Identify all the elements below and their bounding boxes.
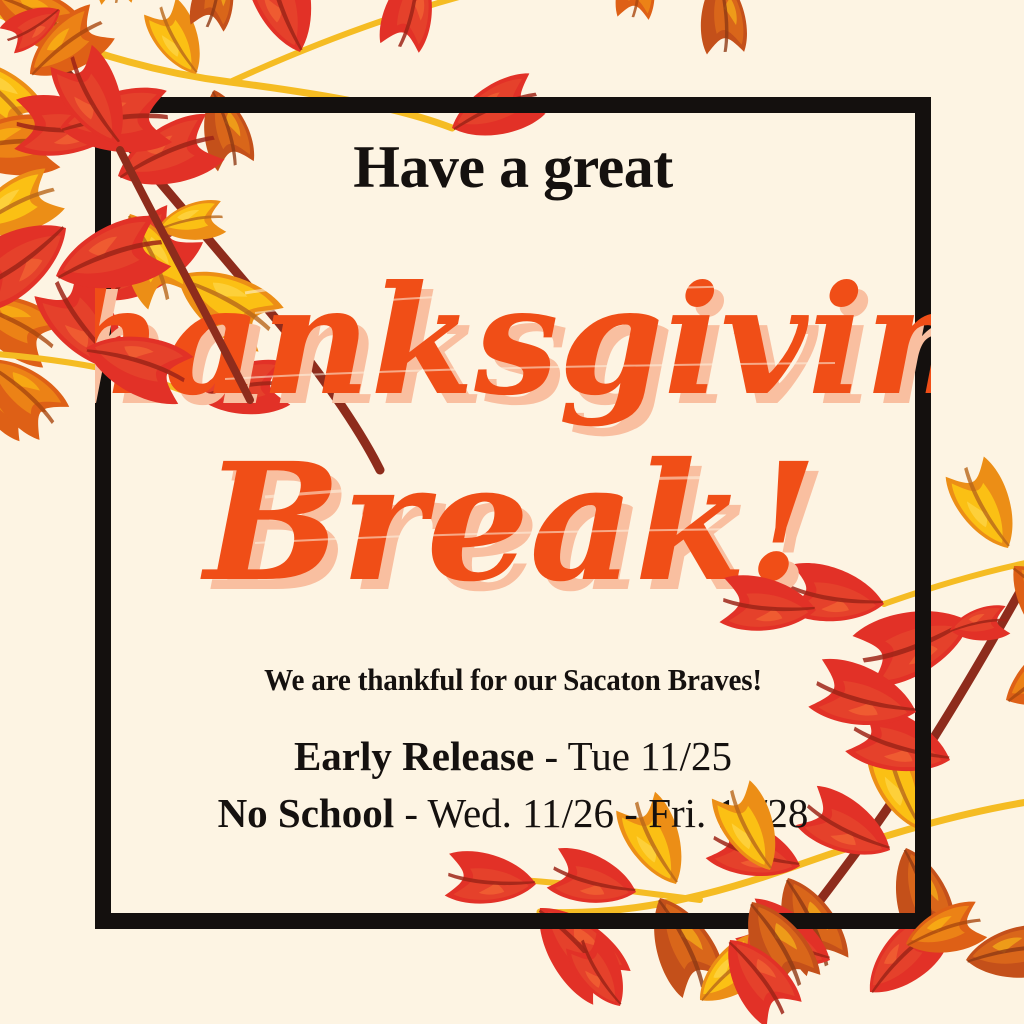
poster-content: Have a great Thanksgiving Thanksgiving B… — [95, 97, 931, 929]
schedule-label-no-school: No School — [218, 790, 395, 836]
gratitude-line: We are thankful for our Sacaton Braves! — [120, 662, 906, 698]
schedule-row-early-release: Early Release - Tue 11/25 — [95, 732, 931, 780]
schedule-value-early-release: - Tue 11/25 — [534, 733, 732, 779]
script-line-2: Break! — [200, 428, 818, 618]
schedule-row-no-school: No School - Wed. 11/26 - Fri. 11/28 — [95, 789, 931, 837]
schedule-value-no-school: - Wed. 11/26 - Fri. 11/28 — [394, 790, 808, 836]
thanksgiving-break-poster: Have a great Thanksgiving Thanksgiving B… — [0, 0, 1024, 1024]
script-headline-svg: Thanksgiving Thanksgiving Break! Break! — [95, 197, 931, 667]
page-title: Have a great — [95, 137, 931, 197]
script-line-1: Thanksgiving — [95, 253, 931, 429]
schedule-label-early-release: Early Release — [294, 733, 534, 779]
script-headline-group: Thanksgiving Thanksgiving Break! Break! — [95, 197, 931, 667]
